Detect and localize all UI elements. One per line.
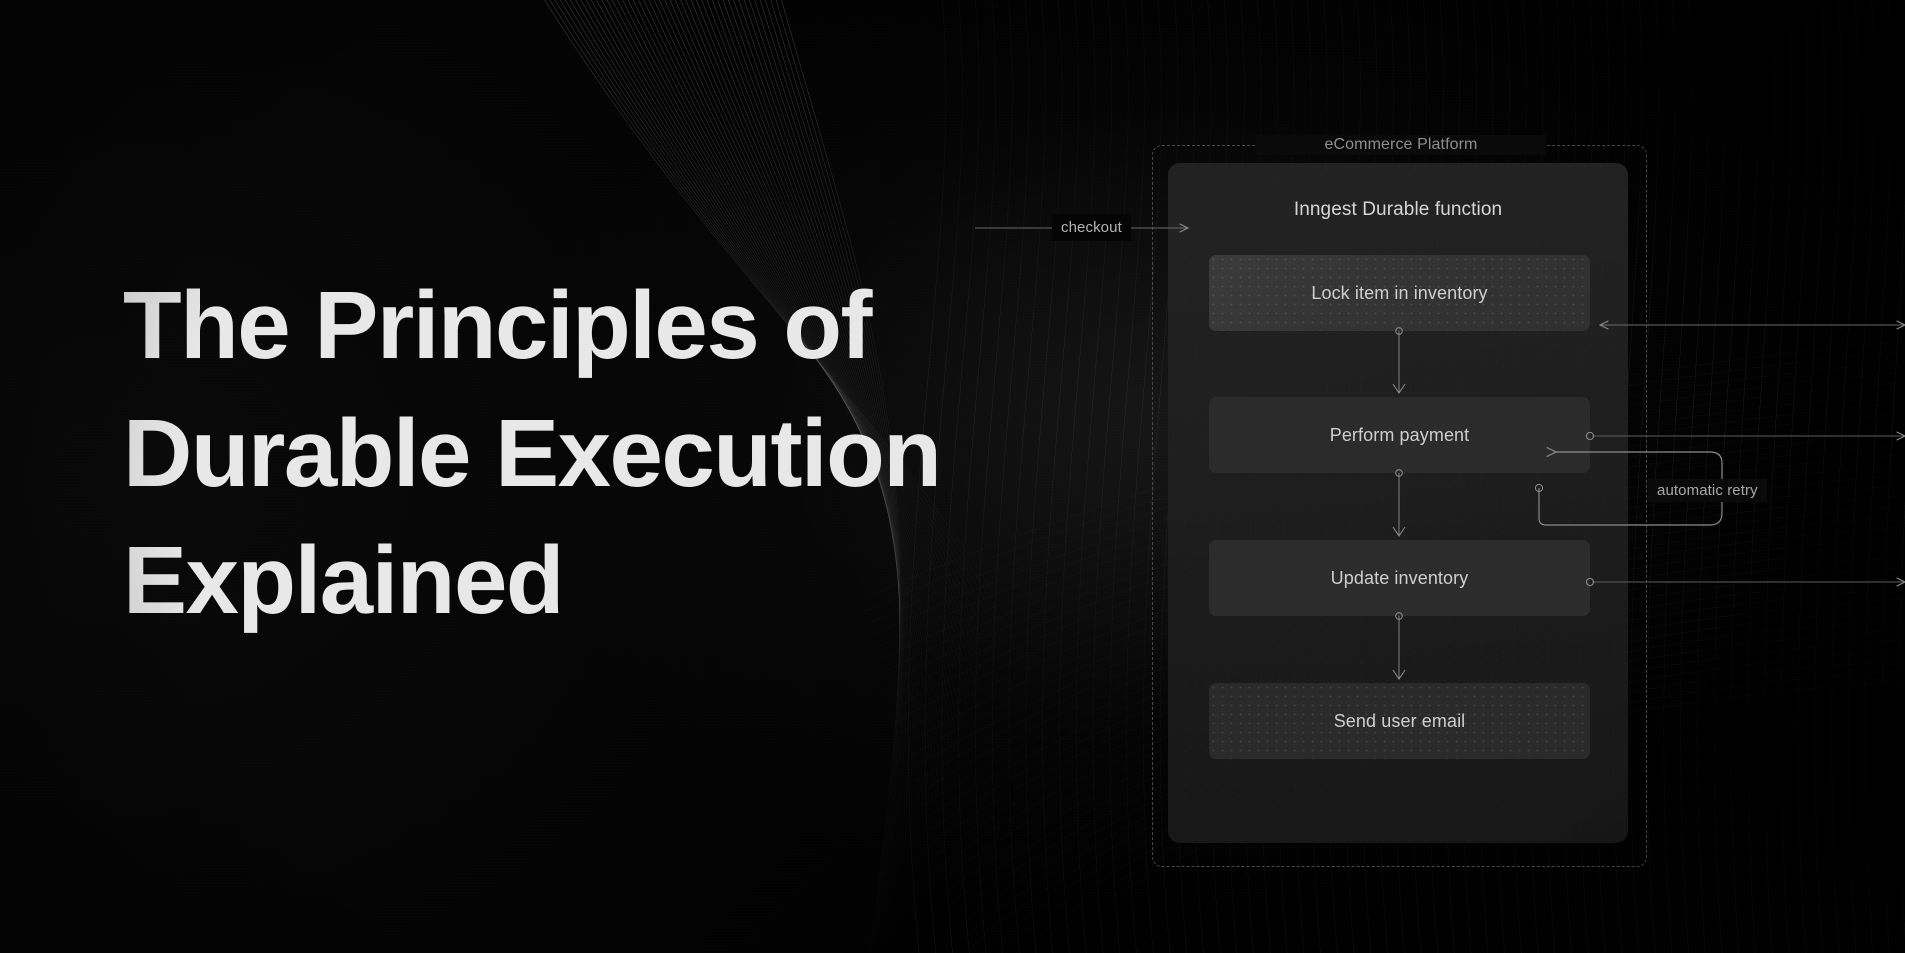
step-label: Send user email: [1334, 711, 1466, 732]
hero-banner: The Principles of Durable Execution Expl…: [0, 0, 1905, 953]
step-perform-payment[interactable]: Perform payment: [1209, 397, 1590, 473]
page-title: The Principles of Durable Execution Expl…: [123, 262, 1073, 645]
step-label: Update inventory: [1331, 568, 1469, 589]
platform-boundary-label: eCommerce Platform: [1256, 135, 1546, 155]
function-title: Inngest Durable function: [1168, 199, 1628, 221]
step-label: Perform payment: [1330, 425, 1470, 446]
step-label: Lock item in inventory: [1311, 283, 1487, 304]
step-send-user-email[interactable]: Send user email: [1209, 683, 1590, 759]
step-lock-item-in-inventory[interactable]: Lock item in inventory: [1209, 255, 1590, 331]
step-update-inventory[interactable]: Update inventory: [1209, 540, 1590, 616]
automatic-retry-label: automatic retry: [1648, 479, 1767, 502]
checkout-event-label: checkout: [1052, 214, 1131, 241]
